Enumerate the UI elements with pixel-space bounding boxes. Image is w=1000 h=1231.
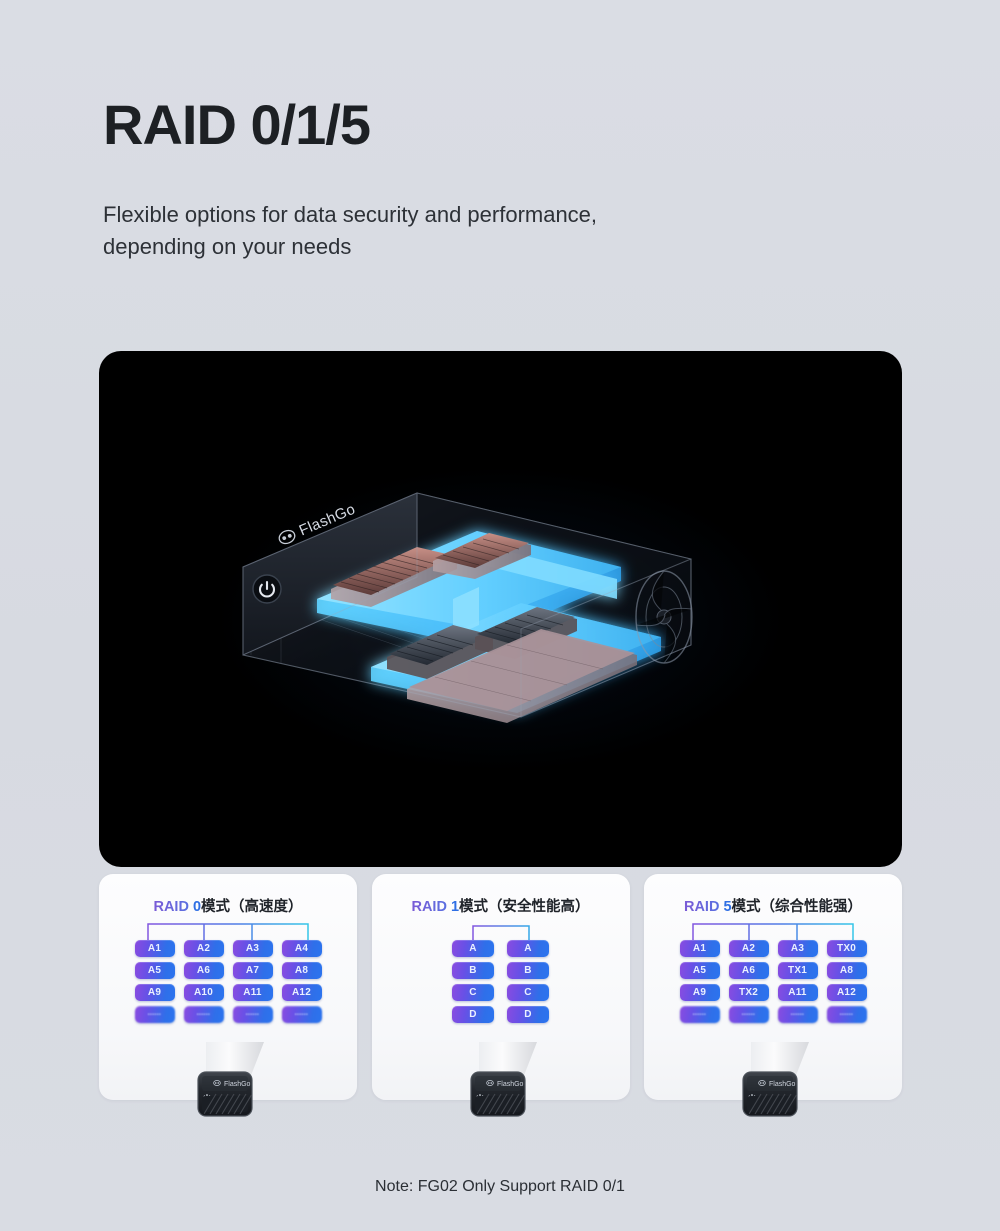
block-row: •••••• •••••• •••••• •••••• [680, 1006, 867, 1023]
raid-card-raid0[interactable]: RAID 0模式（高速度） [99, 874, 357, 1100]
data-block: A3 [778, 940, 818, 957]
data-block: B [507, 962, 549, 979]
data-block: •••••• [827, 1006, 867, 1023]
data-block: A6 [729, 962, 769, 979]
data-block: A10 [184, 984, 224, 1001]
data-block: •••••• [778, 1006, 818, 1023]
block-row: A9 TX2 A11 A12 [680, 984, 867, 1001]
data-block: A8 [827, 962, 867, 979]
raid-level: 5 [723, 899, 731, 915]
block-grid: A1 A2 A3 TX0 A5 A6 TX1 A8 A9 TX2 A11 [644, 940, 902, 1023]
raid-level: 1 [451, 899, 459, 915]
block-grid: A A B B C C D D [372, 940, 630, 1023]
data-block: A9 [135, 984, 175, 1001]
block-row: A9 A10 A11 A12 [135, 984, 322, 1001]
raid-mode-cn: 模式（安全性能高） [459, 899, 590, 915]
data-block: A11 [778, 984, 818, 1001]
device-mockup: FlashGo [172, 1038, 284, 1132]
block-row: D D [452, 1006, 549, 1023]
raid-mode-cn: 模式（高速度） [201, 899, 303, 915]
data-block: C [452, 984, 494, 1001]
raid-card-title: RAID 5模式（综合性能强） [644, 895, 902, 916]
raid-card-title: RAID 0模式（高速度） [99, 895, 357, 916]
data-block: A6 [184, 962, 224, 979]
raid-diagram: A A B B C C D D [372, 918, 630, 1030]
data-block: •••••• [184, 1006, 224, 1023]
data-block: A7 [233, 962, 273, 979]
data-block: A8 [282, 962, 322, 979]
device-mockup: FlashGo [717, 1038, 829, 1132]
data-block: A [507, 940, 549, 957]
data-block: •••••• [135, 1006, 175, 1023]
parity-block: TX0 [827, 940, 867, 957]
data-block: B [452, 962, 494, 979]
raid-level: 0 [193, 899, 201, 915]
data-block: A3 [233, 940, 273, 957]
svg-text:FlashGo: FlashGo [224, 1081, 251, 1088]
data-block: D [452, 1006, 494, 1023]
parity-block: TX2 [729, 984, 769, 1001]
data-block: A5 [680, 962, 720, 979]
block-grid: A1 A2 A3 A4 A5 A6 A7 A8 A9 A10 A11 [99, 940, 357, 1023]
header: RAID 0/1/5 Flexible options for data sec… [103, 96, 903, 263]
raid-mode-cards: RAID 0模式（高速度） [99, 874, 902, 1100]
raid-diagram: A1 A2 A3 TX0 A5 A6 TX1 A8 A9 TX2 A11 [644, 918, 902, 1030]
footnote: Note: FG02 Only Support RAID 0/1 [0, 1178, 1000, 1196]
block-row: •••••• •••••• •••••• •••••• [135, 1006, 322, 1023]
block-row: A1 A2 A3 TX0 [680, 940, 867, 957]
data-block: A2 [184, 940, 224, 957]
data-block: •••••• [729, 1006, 769, 1023]
page-title: RAID 0/1/5 [103, 96, 903, 155]
svg-text:FlashGo: FlashGo [497, 1081, 524, 1088]
block-row: A5 A6 TX1 A8 [680, 962, 867, 979]
raid-card-raid5[interactable]: RAID 5模式（综合性能强） [644, 874, 902, 1100]
svg-text:FlashGo: FlashGo [769, 1081, 796, 1088]
data-block: C [507, 984, 549, 1001]
block-row: A A [452, 940, 549, 957]
parity-block: TX1 [778, 962, 818, 979]
raid-diagram: A1 A2 A3 A4 A5 A6 A7 A8 A9 A10 A11 [99, 918, 357, 1030]
data-block: •••••• [282, 1006, 322, 1023]
raid-label: RAID [684, 899, 719, 915]
data-block: A4 [282, 940, 322, 957]
data-block: A12 [827, 984, 867, 1001]
data-block: •••••• [233, 1006, 273, 1023]
hero-product-image: FlashGo [99, 351, 902, 867]
raid-card-title: RAID 1模式（安全性能高） [372, 895, 630, 916]
data-block: A1 [135, 940, 175, 957]
raid-card-raid1[interactable]: RAID 1模式（安全性能高） [372, 874, 630, 1100]
block-row: C C [452, 984, 549, 1001]
enclosure-xray-render: FlashGo [221, 449, 781, 769]
block-row: A1 A2 A3 A4 [135, 940, 322, 957]
raid-label: RAID [411, 899, 446, 915]
raid-feature-page: RAID 0/1/5 Flexible options for data sec… [0, 0, 1000, 1231]
data-block: •••••• [680, 1006, 720, 1023]
data-block: A2 [729, 940, 769, 957]
data-block: A1 [680, 940, 720, 957]
block-row: A5 A6 A7 A8 [135, 962, 322, 979]
block-row: B B [452, 962, 549, 979]
data-block: D [507, 1006, 549, 1023]
raid-label: RAID [153, 899, 188, 915]
data-block: A12 [282, 984, 322, 1001]
data-block: A11 [233, 984, 273, 1001]
data-block: A [452, 940, 494, 957]
raid-mode-cn: 模式（综合性能强） [732, 899, 863, 915]
power-icon [253, 575, 281, 603]
data-block: A9 [680, 984, 720, 1001]
page-subtitle: Flexible options for data security and p… [103, 199, 803, 263]
data-block: A5 [135, 962, 175, 979]
device-mockup: FlashGo [445, 1038, 557, 1132]
